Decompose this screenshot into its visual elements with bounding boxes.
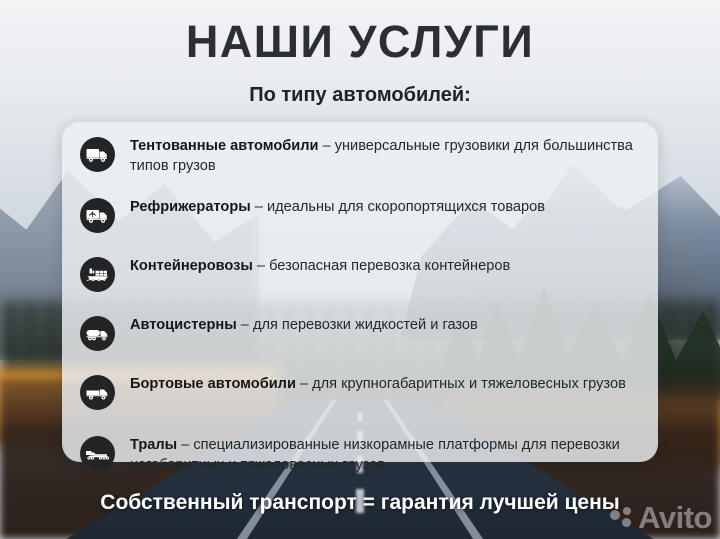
list-item-dash: –: [253, 258, 269, 274]
container-ship-icon: [80, 257, 115, 292]
page-title: НАШИ УСЛУГИ: [0, 18, 720, 65]
page-subtitle: По типу автомобилей:: [0, 84, 720, 107]
list-item-desc: идеальны для скоропортящихся товаров: [267, 199, 545, 215]
list-item: Рефрижераторы – идеальны для скоропортящ…: [80, 191, 644, 250]
box-truck-icon: [80, 137, 115, 172]
list-item-dash: –: [177, 437, 193, 453]
list-item: Контейнеровозы – безопасная перевозка ко…: [80, 250, 644, 309]
list-item-dash: –: [318, 138, 334, 154]
tanker-truck-icon: [80, 316, 115, 351]
list-item-text: Рефрижераторы – идеальны для скоропортящ…: [130, 195, 545, 218]
list-item-dash: –: [296, 376, 312, 392]
list-item-text: Тентованные автомобили – универсальные г…: [130, 134, 644, 177]
list-item: Тралы – специализированные низкорамные п…: [80, 429, 644, 490]
list-item-text: Бортовые автомобили – для крупногабаритн…: [130, 372, 626, 395]
services-list: Тентованные автомобили – универсальные г…: [80, 130, 644, 454]
flatbed-truck-icon: [80, 375, 115, 410]
list-item-text: Контейнеровозы – безопасная перевозка ко…: [130, 254, 510, 277]
list-item-title: Бортовые автомобили: [130, 376, 296, 392]
refrigerator-truck-icon: [80, 198, 115, 233]
list-item: Бортовые автомобили – для крупногабаритн…: [80, 368, 644, 429]
list-item-title: Тралы: [130, 437, 177, 453]
lowloader-trailer-icon: [80, 436, 115, 471]
avito-wordmark: Avito: [638, 502, 712, 533]
avito-watermark: Avito: [610, 502, 712, 533]
poster-root: НАШИ УСЛУГИ По типу автомобилей: Тентов: [0, 0, 720, 539]
avito-logo-icon: [610, 506, 636, 530]
list-item-desc: для перевозки жидкостей и газов: [253, 317, 478, 333]
list-item-title: Автоцистерны: [130, 317, 237, 333]
list-item-title: Тентованные автомобили: [130, 138, 318, 154]
list-item-text: Автоцистерны – для перевозки жидкостей и…: [130, 313, 478, 336]
list-item-desc: специализированные низкорамные платформы…: [130, 437, 620, 473]
list-item-text: Тралы – специализированные низкорамные п…: [130, 433, 644, 476]
list-item-title: Контейнеровозы: [130, 258, 253, 274]
list-item-dash: –: [237, 317, 253, 333]
list-item: Тентованные автомобили – универсальные г…: [80, 130, 644, 191]
list-item: Автоцистерны – для перевозки жидкостей и…: [80, 309, 644, 368]
list-item-desc: для крупногабаритных и тяжеловесных груз…: [312, 376, 626, 392]
services-card: Тентованные автомобили – универсальные г…: [62, 122, 658, 462]
list-item-title: Рефрижераторы: [130, 199, 251, 215]
list-item-desc: безопасная перевозка контейнеров: [269, 258, 510, 274]
list-item-dash: –: [251, 199, 267, 215]
